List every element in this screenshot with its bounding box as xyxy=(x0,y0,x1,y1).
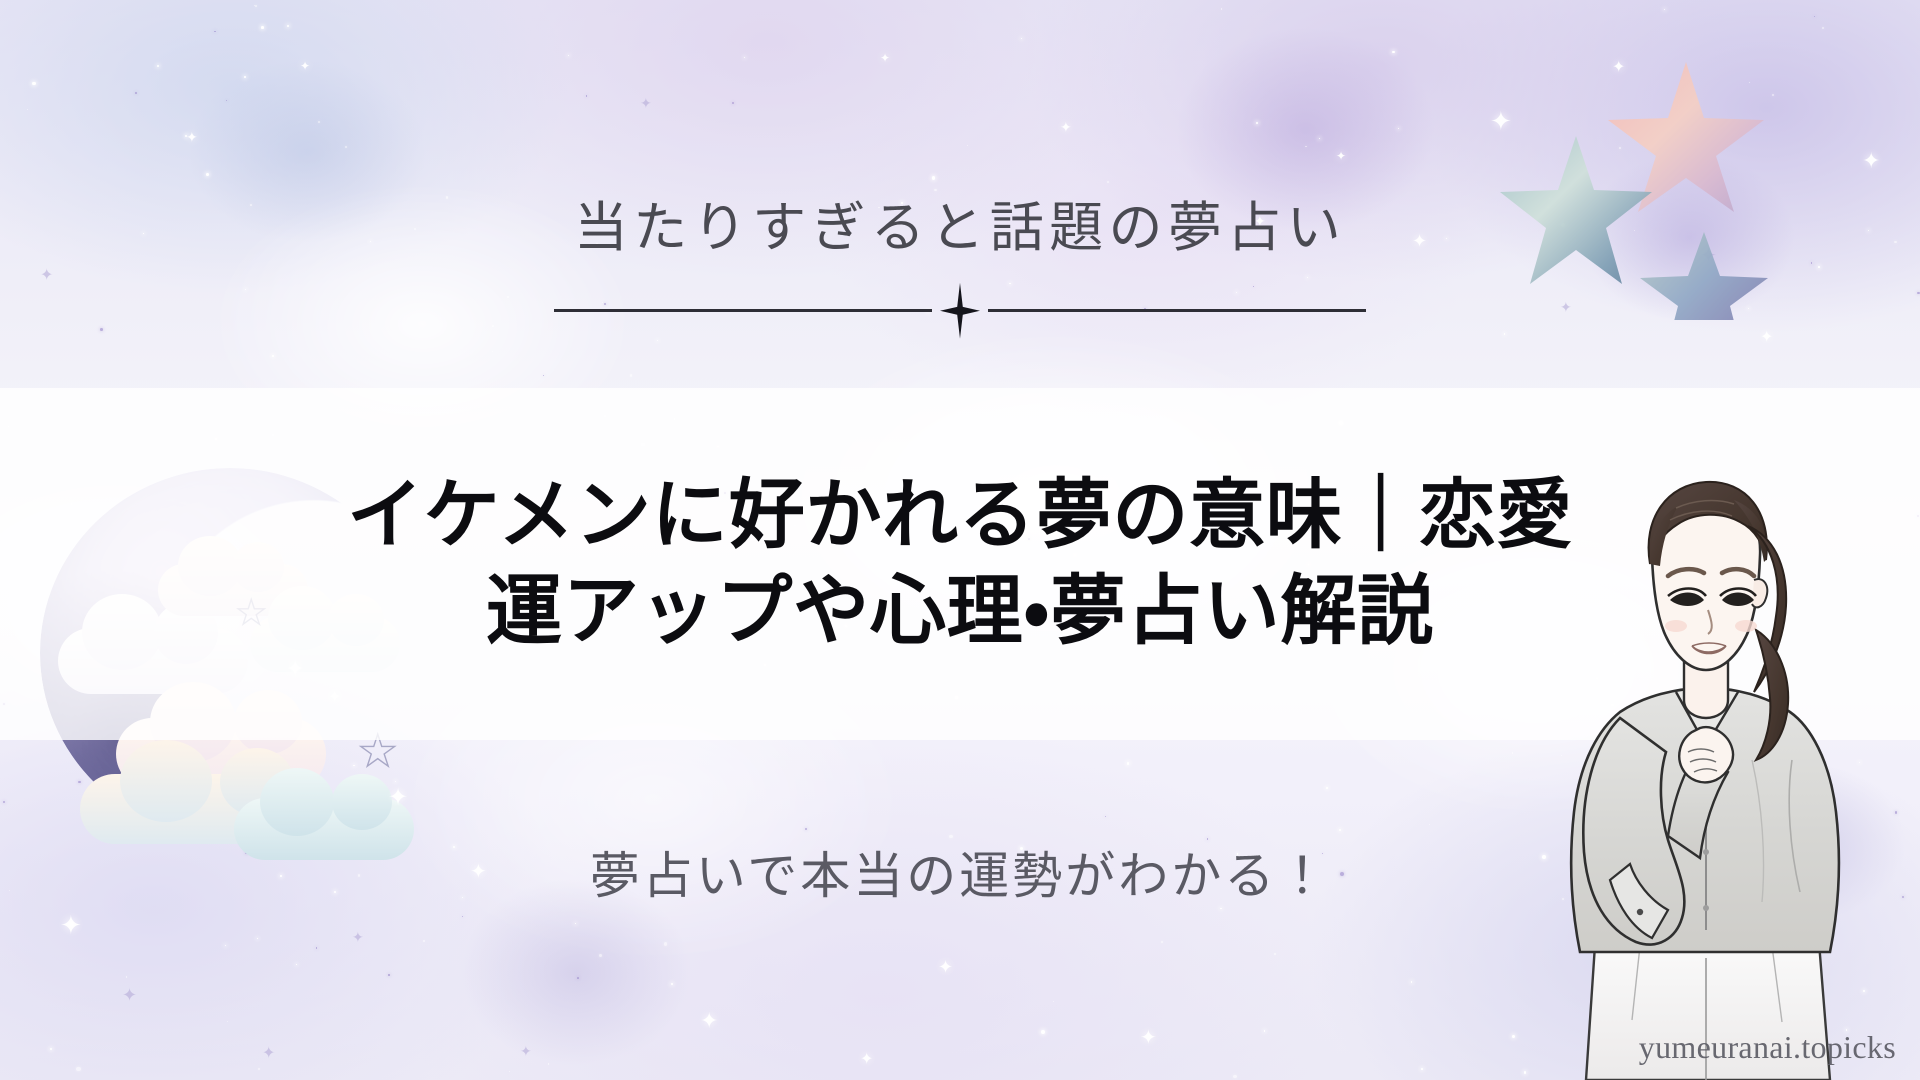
divider xyxy=(554,283,1366,339)
divider-rule-right xyxy=(988,309,1366,312)
title-band: イケメンに好かれる夢の意味｜恋愛 運アップや心理・夢占い解説 xyxy=(0,388,1920,740)
divider-rule-left xyxy=(554,309,932,312)
eyecatch-canvas: ✦✦✦✦✦✦✦✦✦✦✦✦✦✦✦✦✦✦✦✦✦✦✦✦✦ xyxy=(0,0,1920,1080)
header-block: 当たりすぎると話題の夢占い xyxy=(0,196,1920,339)
page-title: イケメンに好かれる夢の意味｜恋愛 運アップや心理・夢占い解説 xyxy=(60,468,1860,660)
watermark: yumeuranai.topicks xyxy=(1639,1029,1896,1066)
catchphrase: 当たりすぎると話題の夢占い xyxy=(0,196,1920,261)
tagline: 夢占いで本当の運勢がわかる！ xyxy=(0,836,1920,908)
title-band-inner: イケメンに好かれる夢の意味｜恋愛 運アップや心理・夢占い解説 xyxy=(0,468,1920,660)
four-point-star-icon xyxy=(940,283,980,339)
